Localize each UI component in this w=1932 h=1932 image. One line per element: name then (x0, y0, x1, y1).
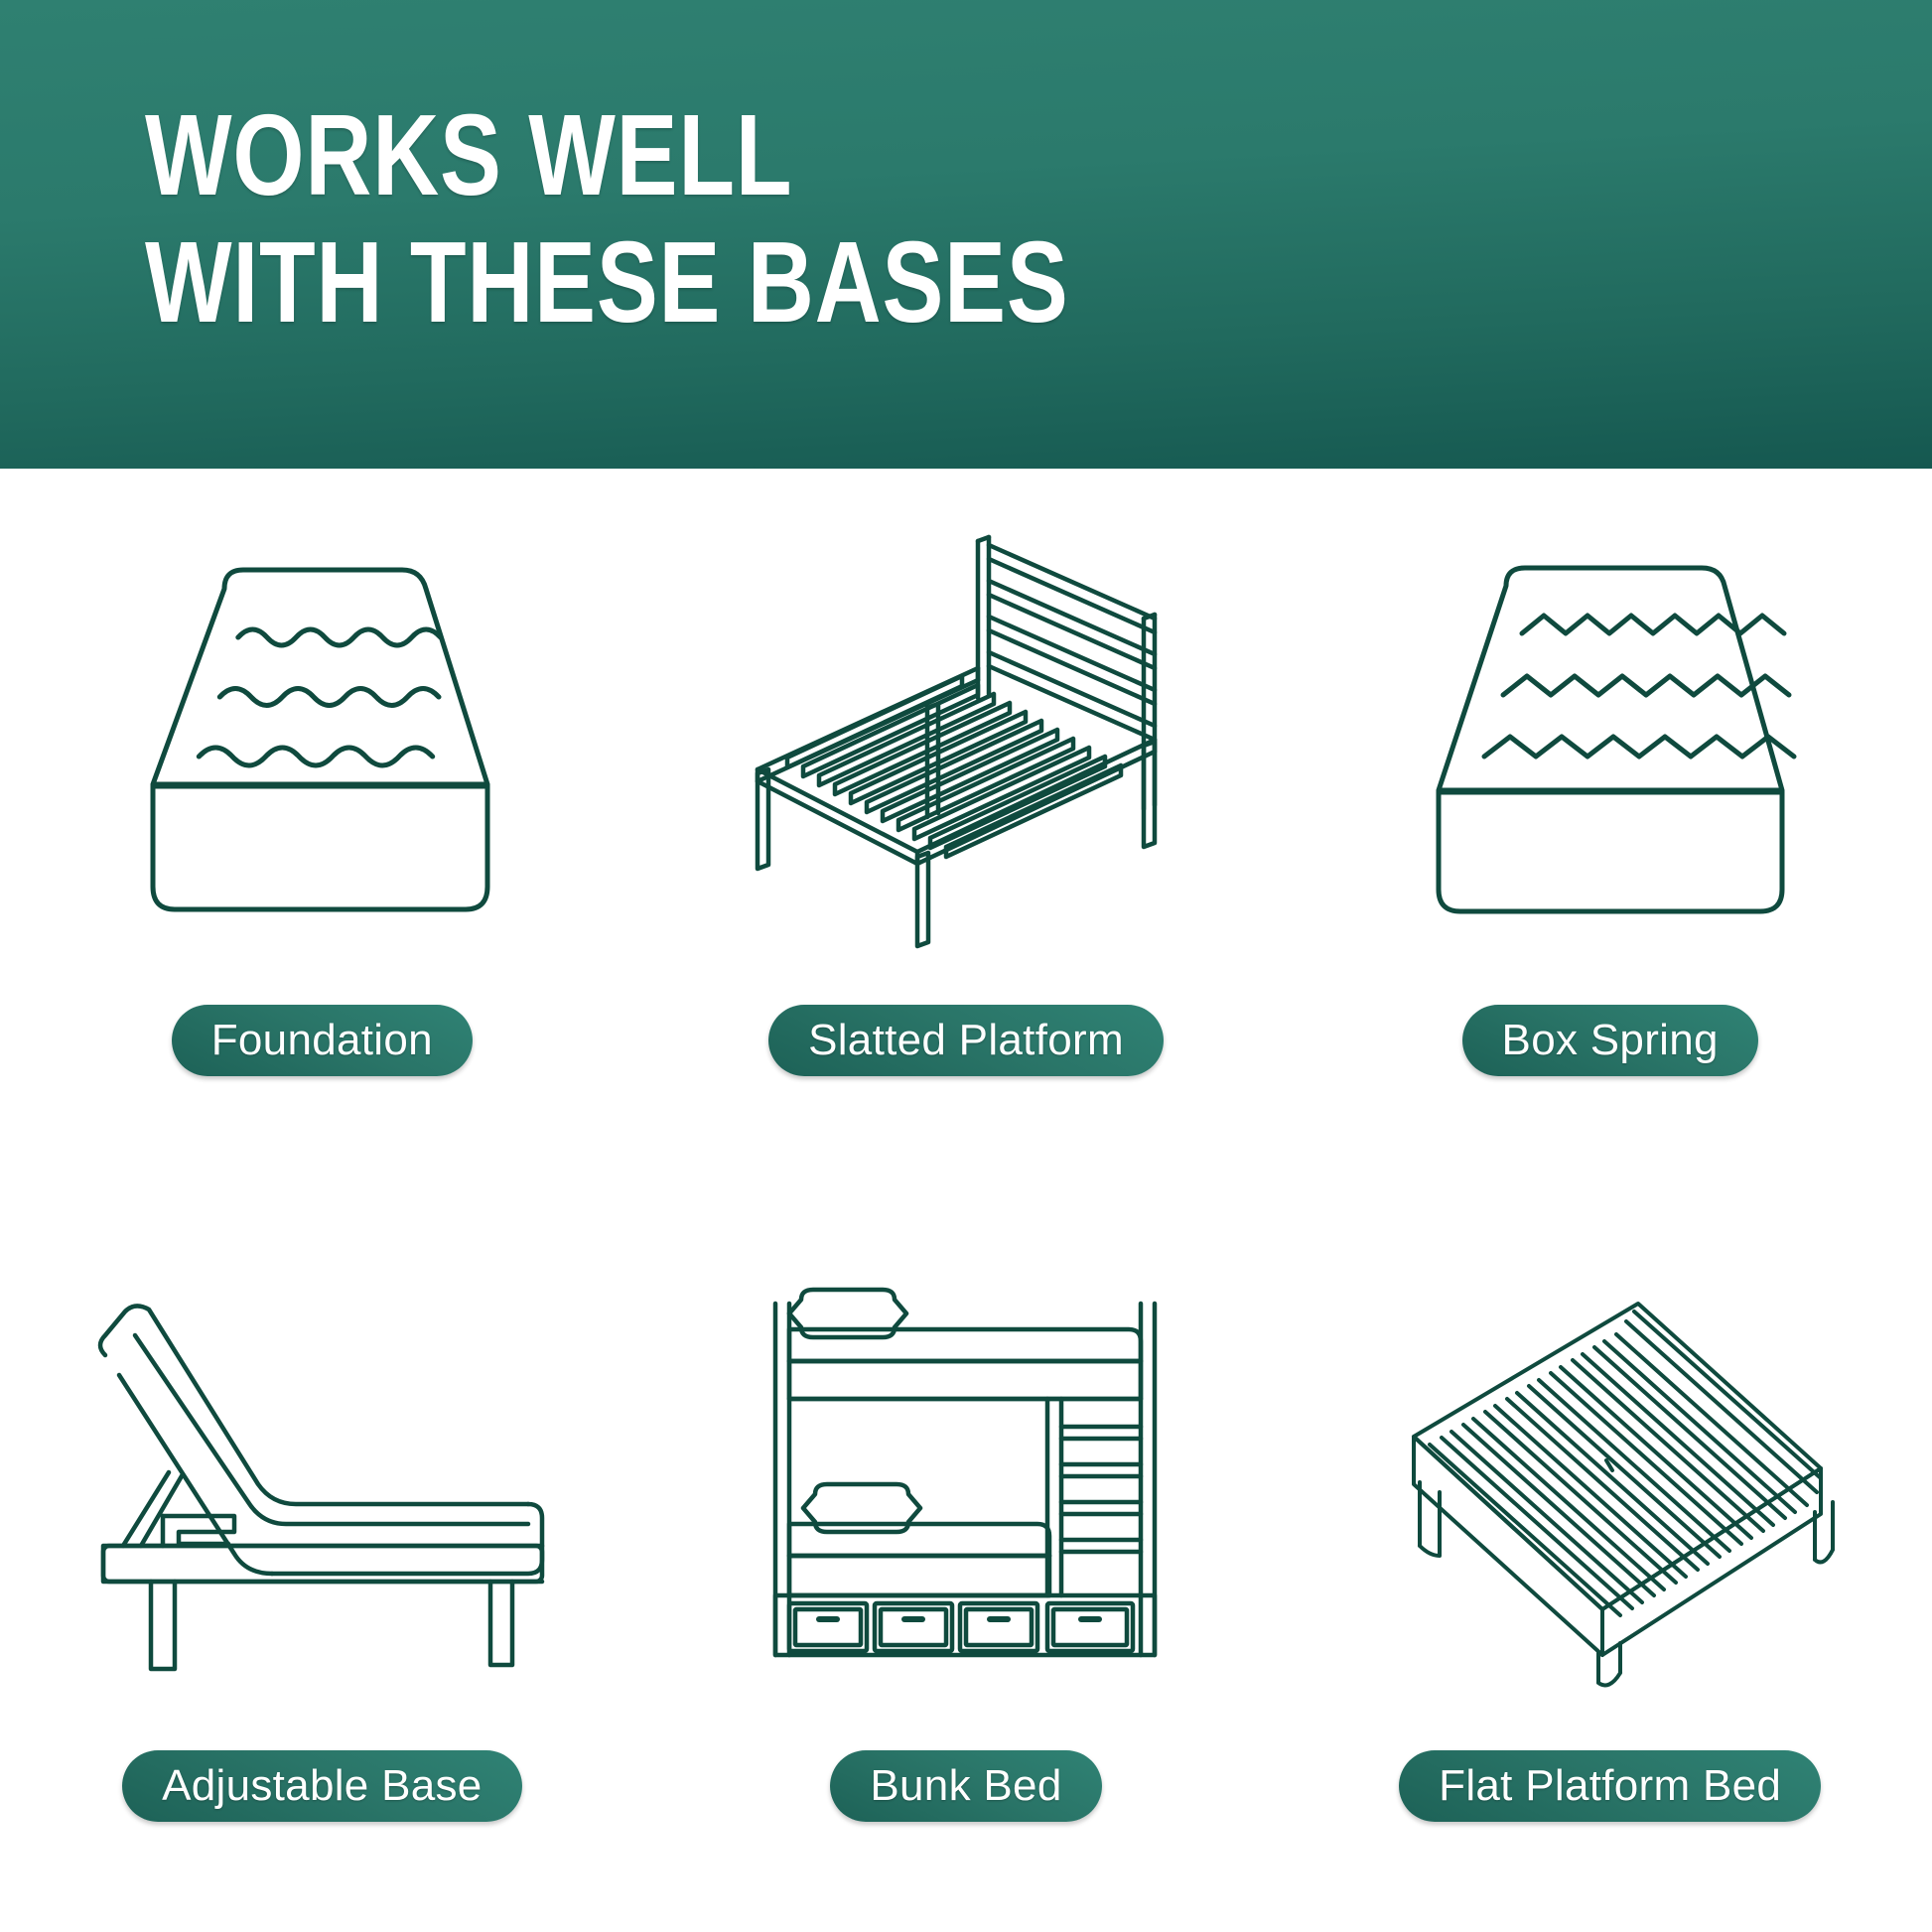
base-card-bunk-bed: Bunk Bed (644, 1200, 1289, 1932)
base-card-adjustable-base: Adjustable Base (0, 1200, 644, 1932)
base-label-slatted-platform[interactable]: Slatted Platform (768, 1005, 1164, 1076)
header-banner: WORKS WELL WITH THESE BASES (0, 0, 1932, 469)
base-label-foundation[interactable]: Foundation (172, 1005, 473, 1076)
bases-grid: Foundation (0, 469, 1932, 1932)
base-label-bunk-bed[interactable]: Bunk Bed (830, 1750, 1101, 1822)
slatted-platform-bed-icon (644, 504, 1289, 981)
base-card-flat-platform-bed: Flat Platform Bed (1288, 1200, 1932, 1932)
base-card-slatted-platform: Slatted Platform (644, 469, 1289, 1200)
page-title: WORKS WELL WITH THESE BASES (145, 91, 1069, 345)
base-label-adjustable-base[interactable]: Adjustable Base (122, 1750, 522, 1822)
base-card-box-spring: Box Spring (1288, 469, 1932, 1200)
base-label-flat-platform-bed[interactable]: Flat Platform Bed (1399, 1750, 1821, 1822)
base-label-box-spring[interactable]: Box Spring (1462, 1005, 1758, 1076)
bunk-bed-icon (644, 1250, 1289, 1726)
box-spring-icon (1288, 504, 1932, 981)
adjustable-base-icon (0, 1250, 644, 1726)
flat-platform-bed-icon (1288, 1250, 1932, 1726)
foundation-mattress-icon (0, 504, 644, 981)
base-card-foundation: Foundation (0, 469, 644, 1200)
